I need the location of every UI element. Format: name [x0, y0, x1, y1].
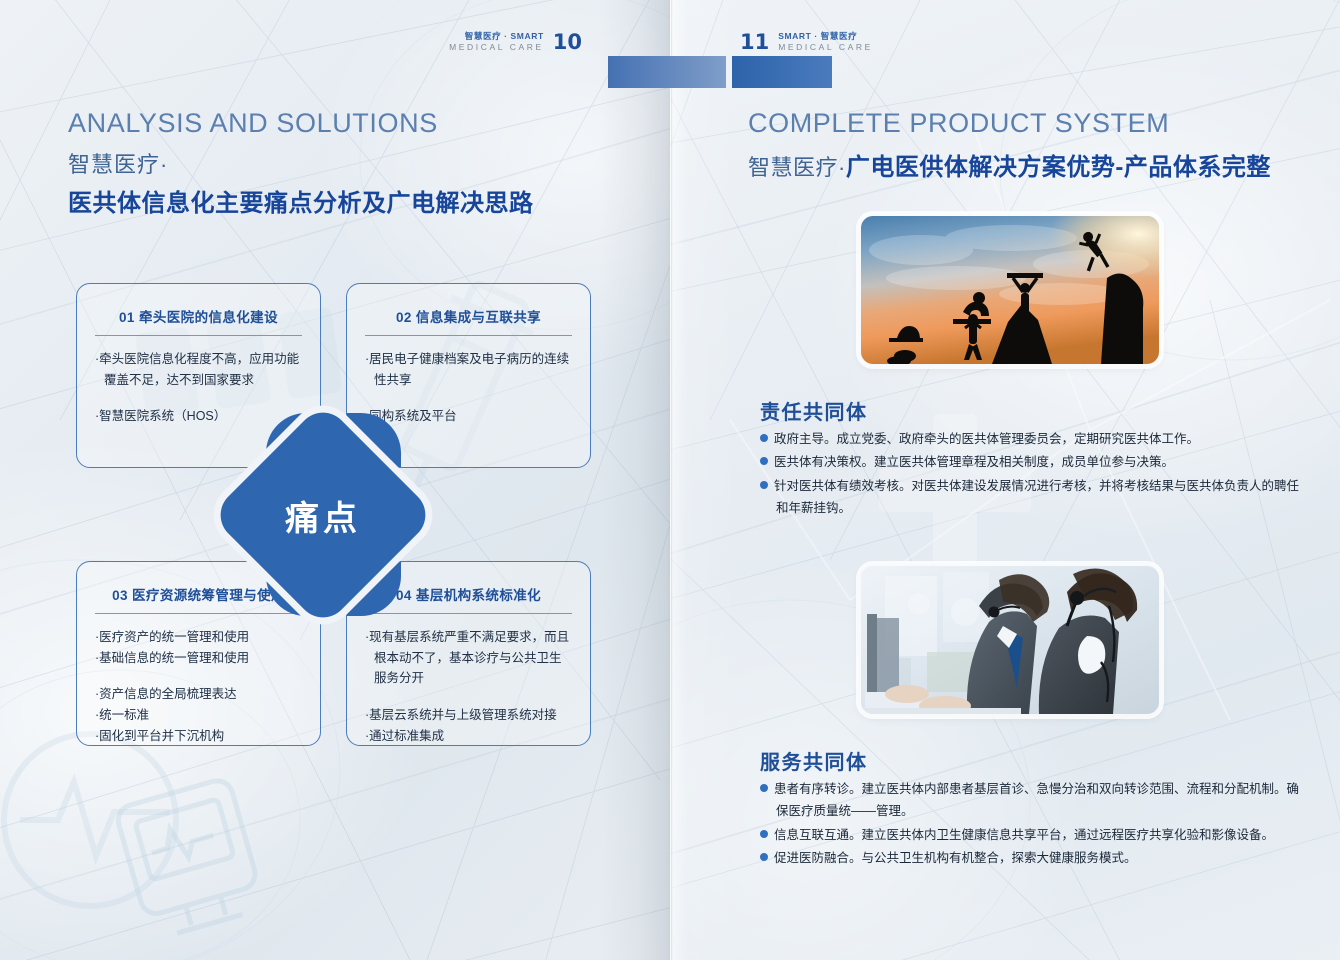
- left-title-english: ANALYSIS AND SOLUTIONS: [68, 108, 534, 139]
- box-02-heading: 02 信息集成与互联共享: [363, 306, 574, 326]
- header-bar-right: [732, 56, 832, 88]
- box-03-group-2: ·资产信息的全局梳理表达 ·统一标准 ·固化到平台并下沉机构 ·互联网+线上线下…: [95, 684, 302, 746]
- right-title-english: COMPLETE PRODUCT SYSTEM: [748, 108, 1271, 139]
- box-01-group-2: ·智慧医院系统（HOS）: [95, 406, 302, 427]
- section-1-body: 政府主导。成立党委、政府牵头的医共体管理委员会，定期研究医共体工作。 医共体有决…: [760, 428, 1305, 520]
- box-04-group-1: ·现有基层系统严重不满足要求，而且根本动不了，基本诊疗与公共卫生服务分开: [365, 627, 572, 689]
- left-title-chinese-sub: 智慧医疗·: [68, 147, 534, 179]
- right-title-chinese-bold: 广电医供体解决方案优势-产品体系完整: [846, 154, 1271, 181]
- box-03-item: ·医疗资产的统一管理和使用: [95, 627, 302, 648]
- section-2-body: 患者有序转诊。建立医共体内部患者基层首诊、急慢分治和双向转诊范围、流程和分配机制…: [760, 778, 1305, 870]
- header-right-group: 11 SMART · 智慧医疗 MEDICAL CARE: [740, 30, 873, 54]
- box-04-group-2: ·基层云系统并与上级管理系统对接 ·通过标准集成: [365, 705, 572, 746]
- box-04-item: ·基层云系统并与上级管理系统对接: [365, 705, 572, 726]
- bullet-icon: [760, 830, 768, 838]
- bullet-icon: [760, 457, 768, 465]
- bullet-icon: [760, 784, 768, 792]
- right-page-title: COMPLETE PRODUCT SYSTEM 智慧医疗·广电医供体解决方案优势…: [748, 108, 1271, 182]
- section-1-item: 医共体有决策权。建立医共体管理章程及相关制度，成员单位参与决策。: [760, 451, 1305, 473]
- section-2-item: 促进医防融合。与公共卫生机构有机整合，探索大健康服务模式。: [760, 847, 1305, 869]
- section-1-item-text: 政府主导。成立党委、政府牵头的医共体管理委员会，定期研究医共体工作。: [774, 432, 1199, 446]
- header-left-brand-en: MEDICAL CARE: [449, 42, 544, 53]
- pain-point-diamond: 痛点: [210, 402, 436, 628]
- brochure-spread: 智慧医疗 · SMART MEDICAL CARE 10 11 SMART · …: [0, 0, 1340, 960]
- section-2-item-text: 患者有序转诊。建立医共体内部患者基层首诊、急慢分治和双向转诊范围、流程和分配机制…: [774, 782, 1299, 818]
- running-header: 智慧医疗 · SMART MEDICAL CARE 10 11 SMART · …: [0, 26, 1340, 70]
- call-center-agents-headset-photo: [861, 566, 1159, 714]
- bullet-icon: [760, 481, 768, 489]
- header-right-brand-en: MEDICAL CARE: [778, 42, 873, 53]
- box-02-item: ·同构系统及平台: [365, 406, 572, 427]
- header-right-brand: SMART · 智慧医疗 MEDICAL CARE: [778, 31, 873, 52]
- spine-edge: [670, 0, 671, 960]
- section-1-item-text: 医共体有决策权。建立医共体管理章程及相关制度，成员单位参与决策。: [774, 455, 1174, 469]
- section-2-item: 患者有序转诊。建立医共体内部患者基层首诊、急慢分治和双向转诊范围、流程和分配机制…: [760, 778, 1305, 823]
- header-right-brand-cn: SMART · 智慧医疗: [778, 31, 873, 42]
- section-2-item: 信息互联互通。建立医共体内卫生健康信息共享平台，通过远程医疗共享化验和影像设备。: [760, 824, 1305, 846]
- box-03-item: ·固化到平台并下沉机构: [95, 726, 302, 747]
- box-02-rule: [365, 335, 572, 336]
- bullet-icon: [760, 434, 768, 442]
- section-2-heading: 服务共同体: [760, 746, 868, 775]
- left-title-chinese-main: 医共体信息化主要痛点分析及广电解决思路: [68, 183, 534, 218]
- section-2-item-text: 信息互联互通。建立医共体内卫生健康信息共享平台，通过远程医疗共享化验和影像设备。: [774, 828, 1274, 842]
- box-01-rule: [95, 335, 302, 336]
- section-1-item: 针对医共体有绩效考核。对医共体建设发展情况进行考核，并将考核结果与医共体负责人的…: [760, 475, 1305, 520]
- right-title-chinese-light: 智慧医疗·: [748, 155, 846, 180]
- box-03-item: ·资产信息的全局梳理表达: [95, 684, 302, 705]
- header-left-brand: 智慧医疗 · SMART MEDICAL CARE: [449, 31, 544, 52]
- box-03-group-1: ·医疗资产的统一管理和使用 ·基础信息的统一管理和使用: [95, 627, 302, 668]
- box-02-body: ·居民电子健康档案及电子病历的连续性共享 ·同构系统及平台: [365, 349, 572, 427]
- bullet-icon: [760, 853, 768, 861]
- box-01-heading: 01 牵头医院的信息化建设: [93, 306, 304, 326]
- section-1-item: 政府主导。成立党委、政府牵头的医共体管理委员会，定期研究医共体工作。: [760, 428, 1305, 450]
- box-02-item: ·居民电子健康档案及电子病历的连续性共享: [365, 349, 572, 390]
- box-04-item: ·现有基层系统严重不满足要求，而且根本动不了，基本诊疗与公共卫生服务分开: [365, 627, 572, 689]
- header-bar-left: [608, 56, 726, 88]
- header-left-brand-cn: 智慧医疗 · SMART: [449, 31, 544, 42]
- pain-point-diamond-label: 痛点: [243, 435, 403, 595]
- box-03-item: ·基础信息的统一管理和使用: [95, 648, 302, 669]
- box-03-rule: [95, 613, 302, 614]
- right-title-chinese: 智慧医疗·广电医供体解决方案优势-产品体系完整: [748, 147, 1271, 182]
- box-03-item: ·统一标准: [95, 705, 302, 726]
- box-01-item: ·智慧医院系统（HOS）: [95, 406, 302, 427]
- left-page-title: ANALYSIS AND SOLUTIONS 智慧医疗· 医共体信息化主要痛点分…: [68, 108, 534, 218]
- teamwork-silhouette-sunset-photo: [861, 216, 1159, 364]
- box-02-group-2: ·同构系统及平台: [365, 406, 572, 427]
- box-04-body: ·现有基层系统严重不满足要求，而且根本动不了，基本诊疗与公共卫生服务分开 ·基层…: [365, 627, 572, 746]
- box-04-item: ·通过标准集成: [365, 726, 572, 747]
- page-number-right: 11: [740, 30, 769, 54]
- box-04-rule: [365, 613, 572, 614]
- box-01-group-1: ·牵头医院信息化程度不高，应用功能覆盖不足，达不到国家要求: [95, 349, 302, 390]
- section-2-item-text: 促进医防融合。与公共卫生机构有机整合，探索大健康服务模式。: [774, 851, 1137, 865]
- section-1-item-text: 针对医共体有绩效考核。对医共体建设发展情况进行考核，并将考核结果与医共体负责人的…: [774, 479, 1299, 515]
- box-03-body: ·医疗资产的统一管理和使用 ·基础信息的统一管理和使用 ·资产信息的全局梳理表达…: [95, 627, 302, 746]
- section-1-heading: 责任共同体: [760, 396, 868, 425]
- box-01-item: ·牵头医院信息化程度不高，应用功能覆盖不足，达不到国家要求: [95, 349, 302, 390]
- box-02-group-1: ·居民电子健康档案及电子病历的连续性共享: [365, 349, 572, 390]
- header-left-group: 智慧医疗 · SMART MEDICAL CARE 10: [449, 30, 582, 54]
- box-01-body: ·牵头医院信息化程度不高，应用功能覆盖不足，达不到国家要求 ·智慧医院系统（HO…: [95, 349, 302, 427]
- page-number-left: 10: [553, 30, 582, 54]
